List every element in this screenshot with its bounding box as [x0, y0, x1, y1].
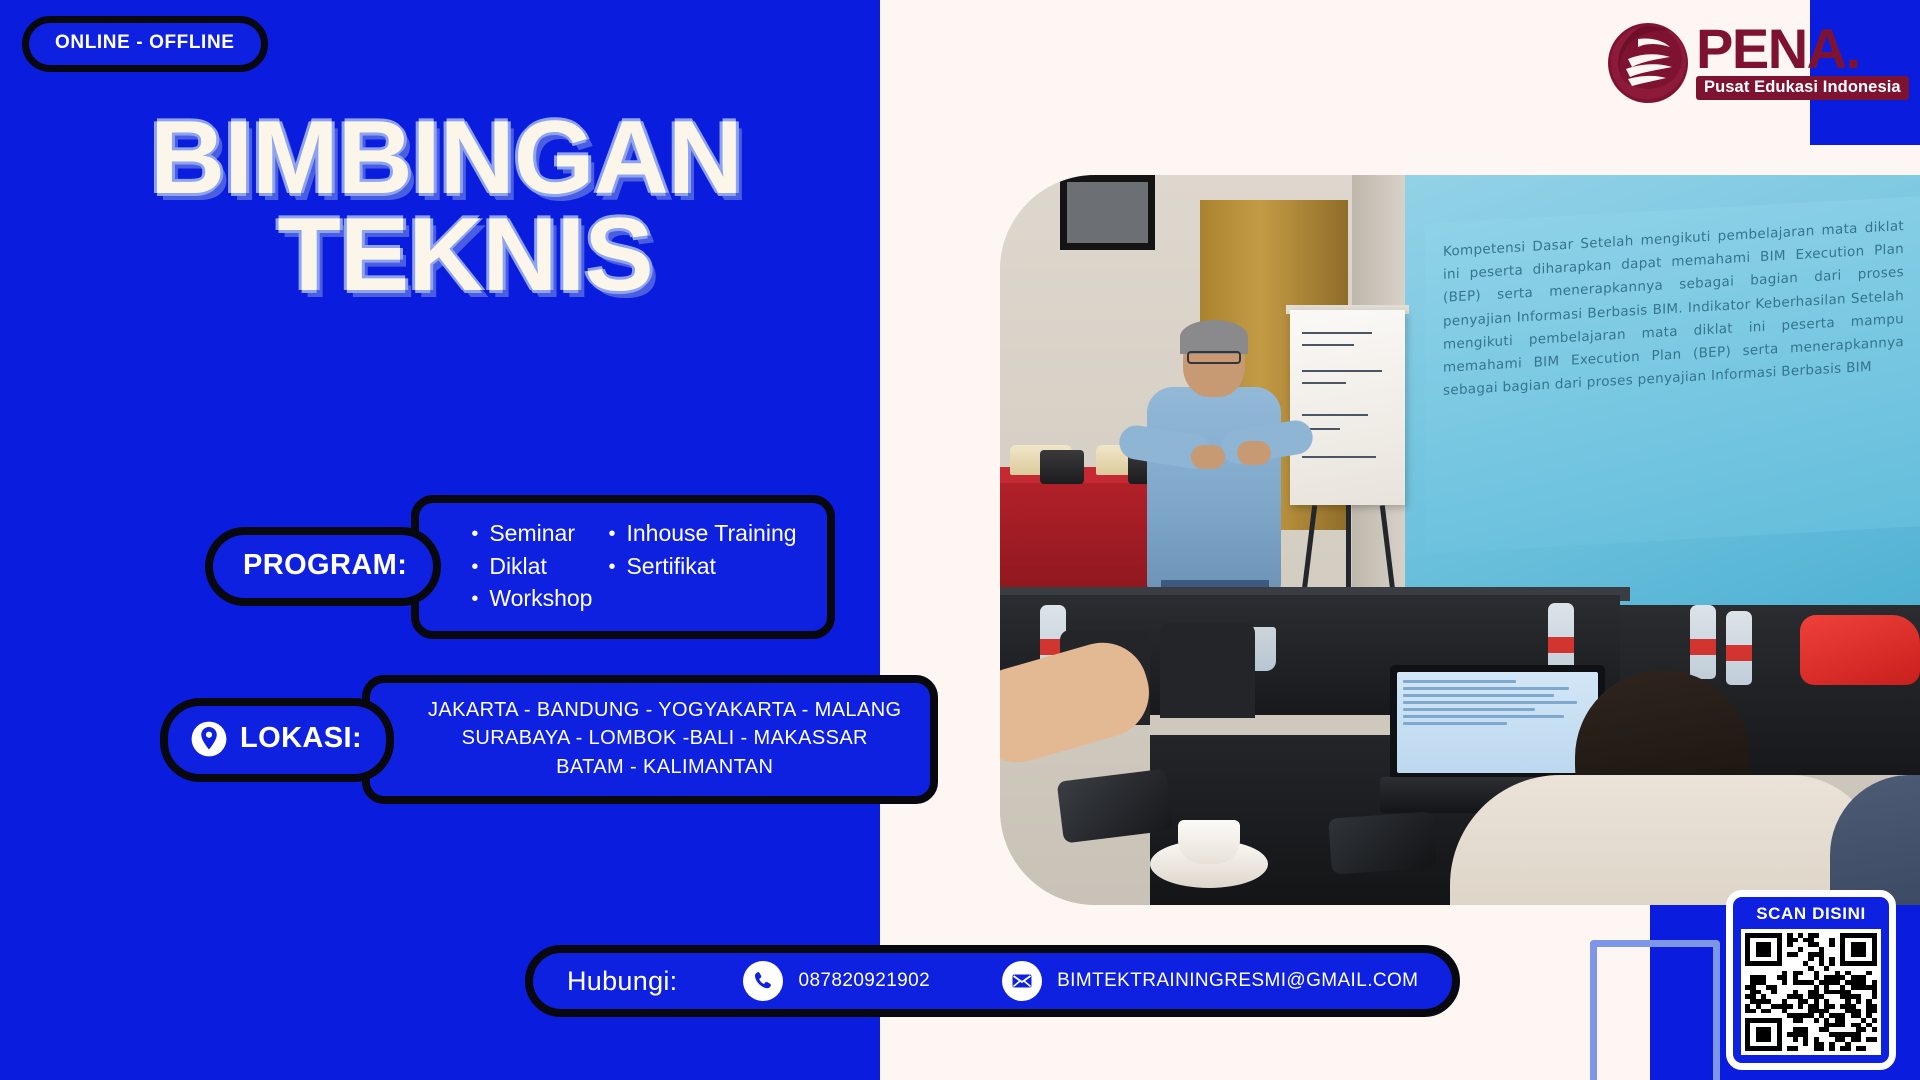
lokasi-list-box: JAKARTA - BANDUNG - YOGYAKARTA - MALANG …	[362, 675, 937, 804]
contact-label: Hubungi:	[567, 966, 677, 997]
title-line-1: BIMBINGAN	[140, 110, 880, 207]
projector-screen-text: Kompetensi Dasar Setelah mengikuti pembe…	[1425, 196, 1920, 404]
lokasi-label-pill: LOKASI:	[160, 698, 394, 782]
program-item: Inhouse Training	[608, 517, 796, 550]
program-row: PROGRAM: Seminar Diklat Workshop Inhouse…	[205, 495, 835, 639]
program-column-2: Inhouse Training Sertifikat	[608, 517, 796, 615]
contact-bar: Hubungi: 087820921902 BIMTEKTRAININGRESM…	[525, 945, 1460, 1017]
training-room-photo: Kompetensi Dasar Setelah mengikuti pembe…	[1000, 175, 1920, 905]
pena-logo: PENA. Pusat Edukasi Indonesia	[1598, 10, 1898, 115]
smartphone-center	[1328, 811, 1437, 874]
program-list-box: Seminar Diklat Workshop Inhouse Training…	[411, 495, 834, 639]
program-item: Diklat	[471, 550, 592, 583]
email-address: BIMTEKTRAININGRESMI@GMAIL.COM	[1057, 970, 1418, 992]
feather-circle-emblem-icon	[1598, 13, 1698, 113]
lokasi-label: LOKASI:	[240, 722, 362, 755]
phone-number: 087820921902	[798, 970, 930, 992]
projector-screen: Kompetensi Dasar Setelah mengikuti pembe…	[1425, 196, 1920, 554]
program-column-1: Seminar Diklat Workshop	[471, 517, 592, 615]
page-title: BIMBINGAN TEKNIS	[140, 110, 880, 303]
qr-title: SCAN DISINI	[1756, 904, 1866, 924]
qr-card[interactable]: SCAN DISINI	[1726, 890, 1896, 1070]
program-label: PROGRAM:	[243, 549, 407, 582]
program-item: Sertifikat	[608, 550, 796, 583]
title-line-2: TEKNIS	[140, 207, 880, 304]
lokasi-row: LOKASI: JAKARTA - BANDUNG - YOGYAKARTA -…	[160, 675, 938, 804]
logo-tagline: Pusat Edukasi Indonesia	[1696, 76, 1909, 100]
contact-phone[interactable]: 087820921902	[743, 961, 930, 1001]
qr-code-image	[1741, 929, 1881, 1055]
lokasi-line: BATAM - KALIMANTAN	[428, 753, 901, 781]
lokasi-line: SURABAYA - LOMBOK -BALI - MAKASSAR	[428, 724, 901, 752]
map-pin-icon	[190, 720, 228, 758]
wall-picture-frame	[1060, 175, 1155, 250]
coffee-cup	[1178, 820, 1240, 864]
envelope-icon	[1002, 961, 1042, 1001]
phone-icon	[743, 961, 783, 1001]
program-item: Workshop	[471, 582, 592, 615]
participant-hoodie	[1450, 775, 1880, 905]
lokasi-line: JAKARTA - BANDUNG - YOGYAKARTA - MALANG	[428, 696, 901, 724]
logo-wordmark: PENA.	[1696, 25, 1909, 73]
program-item: Seminar	[471, 517, 592, 550]
online-offline-badge: ONLINE - OFFLINE	[22, 16, 268, 72]
contact-email[interactable]: BIMTEKTRAININGRESMI@GMAIL.COM	[1002, 961, 1418, 1001]
red-bag	[1800, 615, 1920, 685]
program-label-pill: PROGRAM:	[205, 527, 441, 606]
